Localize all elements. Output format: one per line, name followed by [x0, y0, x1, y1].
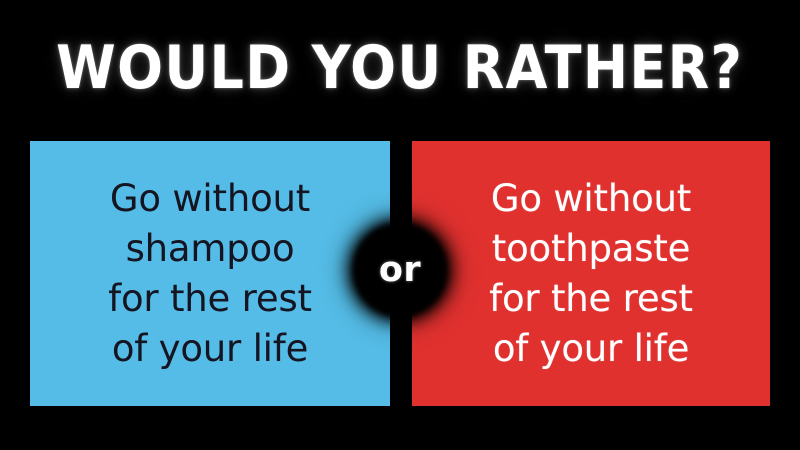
option-right-text: Go without toothpaste for the rest of yo… — [489, 174, 693, 374]
page-title: WOULD YOU RATHER? — [56, 38, 743, 98]
would-you-rather-slide: WOULD YOU RATHER? Go without shampoo for… — [0, 0, 800, 450]
or-separator-label: or — [379, 253, 421, 288]
title-bar: WOULD YOU RATHER? — [0, 28, 800, 108]
option-panel-right[interactable]: Go without toothpaste for the rest of yo… — [412, 141, 770, 406]
option-panel-left[interactable]: Go without shampoo for the rest of your … — [30, 141, 390, 406]
or-separator-badge: or — [358, 228, 442, 312]
option-left-text: Go without shampoo for the rest of your … — [108, 174, 312, 374]
